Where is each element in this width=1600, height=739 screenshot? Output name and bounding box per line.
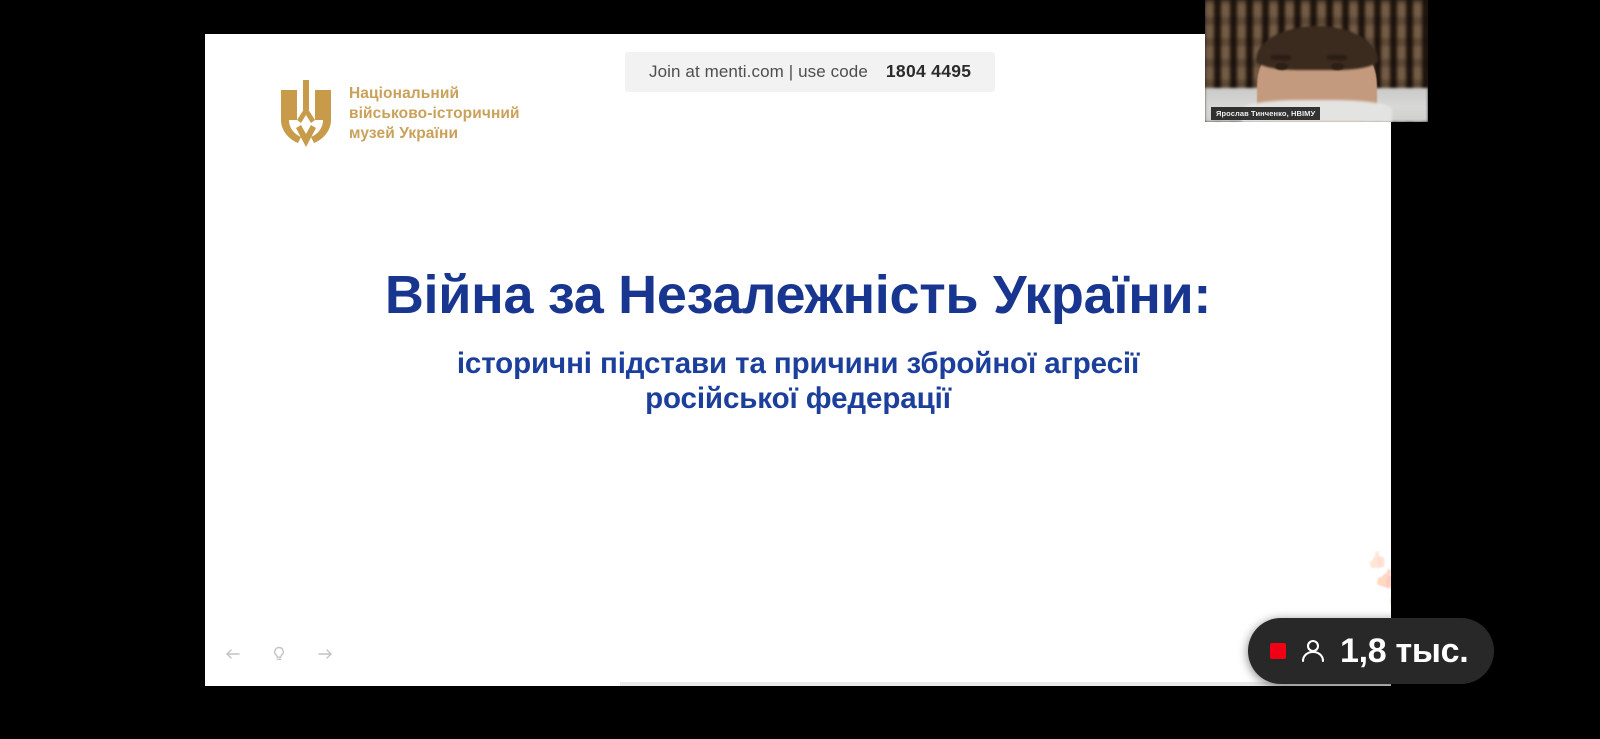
slide-navigation[interactable] xyxy=(223,644,335,664)
video-player-stage: Національний військово-історичний музей … xyxy=(0,0,1600,739)
arrow-left-icon[interactable] xyxy=(223,644,243,664)
live-indicator-icon xyxy=(1270,643,1286,659)
lightbulb-icon[interactable] xyxy=(269,644,289,664)
slide-title-block: Війна за Незалежність України: історичні… xyxy=(205,266,1391,417)
live-viewer-badge[interactable]: 1,8 тыс. xyxy=(1248,618,1494,684)
webcam-eye-right xyxy=(1331,63,1344,70)
webcam-brow-left xyxy=(1271,55,1291,60)
reaction-thumbsup-icon: 👍 xyxy=(1366,552,1388,571)
speaker-name-label: Ярослав Тинченко, НВІМУ xyxy=(1211,107,1320,120)
speaker-webcam[interactable]: Ярослав Тинченко, НВІМУ xyxy=(1205,0,1428,122)
slide-subtitle: історичні підстави та причини збройної а… xyxy=(403,346,1193,416)
menti-join-banner: Join at menti.com | use code 1804 4495 xyxy=(625,52,995,92)
menti-code: 1804 4495 xyxy=(886,61,971,82)
page-title: Війна за Незалежність України: xyxy=(205,266,1391,324)
webcam-eye-left xyxy=(1275,63,1288,70)
viewer-count: 1,8 тыс. xyxy=(1340,634,1468,668)
reaction-thumbsup-icon: 👍 xyxy=(1386,586,1391,608)
presentation-slide: Національний військово-історичний музей … xyxy=(205,34,1391,686)
reaction-thumbsup-icon: 👍 xyxy=(1373,567,1391,589)
webcam-brow-right xyxy=(1327,55,1347,60)
person-icon xyxy=(1298,636,1328,666)
museum-logo-text: Національний військово-історичний музей … xyxy=(349,84,520,143)
slide-progress-bar[interactable] xyxy=(205,682,1391,686)
arrow-right-icon[interactable] xyxy=(315,644,335,664)
menti-join-text: Join at menti.com | use code xyxy=(649,62,868,82)
slide-progress-fill xyxy=(205,682,620,686)
museum-logo: Національний військово-історичний музей … xyxy=(275,76,520,152)
ukraine-trident-icon xyxy=(275,76,337,152)
